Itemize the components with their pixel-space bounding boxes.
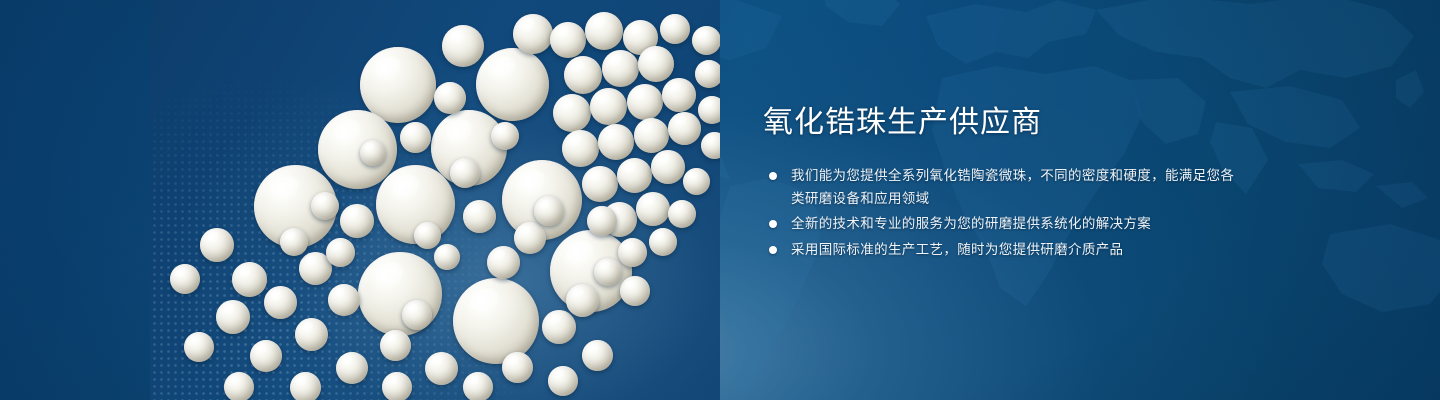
bead <box>425 352 458 385</box>
bead <box>668 200 696 228</box>
bead <box>695 60 720 88</box>
bead <box>487 246 520 279</box>
list-item-text: 采用国际标准的生产工艺，随时为您提供研磨介质产品 <box>791 242 1123 258</box>
bead <box>662 78 696 112</box>
bead <box>502 352 533 383</box>
banner-copy: 氧化锆珠生产供应商 我们能为您提供全系列氧化锆陶瓷微珠，不同的密度和硬度，能满足… <box>763 103 1243 264</box>
bead <box>463 200 496 233</box>
bead <box>434 82 466 114</box>
bead <box>311 192 339 220</box>
bead <box>590 88 627 125</box>
bead <box>360 140 386 166</box>
bead <box>598 124 634 160</box>
bead <box>184 332 214 362</box>
zirconia-beads-image <box>150 0 720 400</box>
bead <box>340 204 374 238</box>
bead <box>534 196 564 226</box>
list-item: 全新的技术和专业的服务为您的研磨提供系统化的解决方案 <box>763 213 1243 236</box>
list-item-text: 全新的技术和专业的服务为您的研磨提供系统化的解决方案 <box>791 216 1151 232</box>
bead <box>618 238 647 267</box>
bead <box>170 264 200 294</box>
bead <box>463 372 493 400</box>
bead <box>548 366 578 396</box>
bead <box>550 22 586 58</box>
bead <box>200 228 234 262</box>
bead <box>564 56 602 94</box>
bead <box>224 372 254 400</box>
bead <box>476 48 549 121</box>
bead <box>402 300 432 330</box>
bead <box>553 94 591 132</box>
bead <box>453 278 539 364</box>
bead <box>414 222 441 249</box>
bead <box>698 96 720 124</box>
bead <box>216 300 250 334</box>
bullet-dot-icon <box>769 246 777 254</box>
page-title: 氧化锆珠生产供应商 <box>763 103 1243 143</box>
bead <box>585 12 623 50</box>
bead <box>582 340 613 371</box>
bead <box>513 14 553 54</box>
bead <box>450 158 480 188</box>
list-item: 采用国际标准的生产工艺，随时为您提供研磨介质产品 <box>763 239 1243 262</box>
bullet-dot-icon <box>769 172 777 180</box>
bead <box>542 310 576 344</box>
bead <box>491 122 519 150</box>
bullet-dot-icon <box>769 220 777 228</box>
bead <box>232 262 267 297</box>
bead <box>382 372 412 400</box>
bead <box>683 168 710 195</box>
bead <box>264 286 297 319</box>
bead <box>566 284 599 317</box>
bead <box>617 158 652 193</box>
bead <box>434 244 460 270</box>
bead <box>380 330 411 361</box>
bead <box>290 372 321 400</box>
bead <box>514 222 546 254</box>
bead <box>651 150 685 184</box>
bead <box>400 122 431 153</box>
bead <box>295 318 328 351</box>
bead <box>636 192 670 226</box>
bead <box>638 46 674 82</box>
bead <box>250 340 282 372</box>
bead <box>326 238 355 267</box>
bead <box>692 26 720 55</box>
bead <box>620 276 650 306</box>
list-item: 我们能为您提供全系列氧化锆陶瓷微珠，不同的密度和硬度，能满足您各类研磨设备和应用… <box>763 165 1243 210</box>
bead <box>602 50 639 87</box>
bead <box>634 118 669 153</box>
bead <box>649 228 677 256</box>
bead <box>594 258 622 286</box>
bead <box>660 14 690 44</box>
bead <box>668 112 701 145</box>
bead <box>442 25 484 67</box>
bead <box>336 352 368 384</box>
bead <box>582 166 618 202</box>
bead <box>627 84 663 120</box>
hero-banner: 氧化锆珠生产供应商 我们能为您提供全系列氧化锆陶瓷微珠，不同的密度和硬度，能满足… <box>0 0 1440 400</box>
feature-list: 我们能为您提供全系列氧化锆陶瓷微珠，不同的密度和硬度，能满足您各类研磨设备和应用… <box>763 165 1243 261</box>
bead <box>587 206 617 236</box>
bead <box>562 130 599 167</box>
bead <box>280 228 308 256</box>
list-item-text: 我们能为您提供全系列氧化锆陶瓷微珠，不同的密度和硬度，能满足您各类研磨设备和应用… <box>791 168 1234 207</box>
bead <box>328 284 360 316</box>
